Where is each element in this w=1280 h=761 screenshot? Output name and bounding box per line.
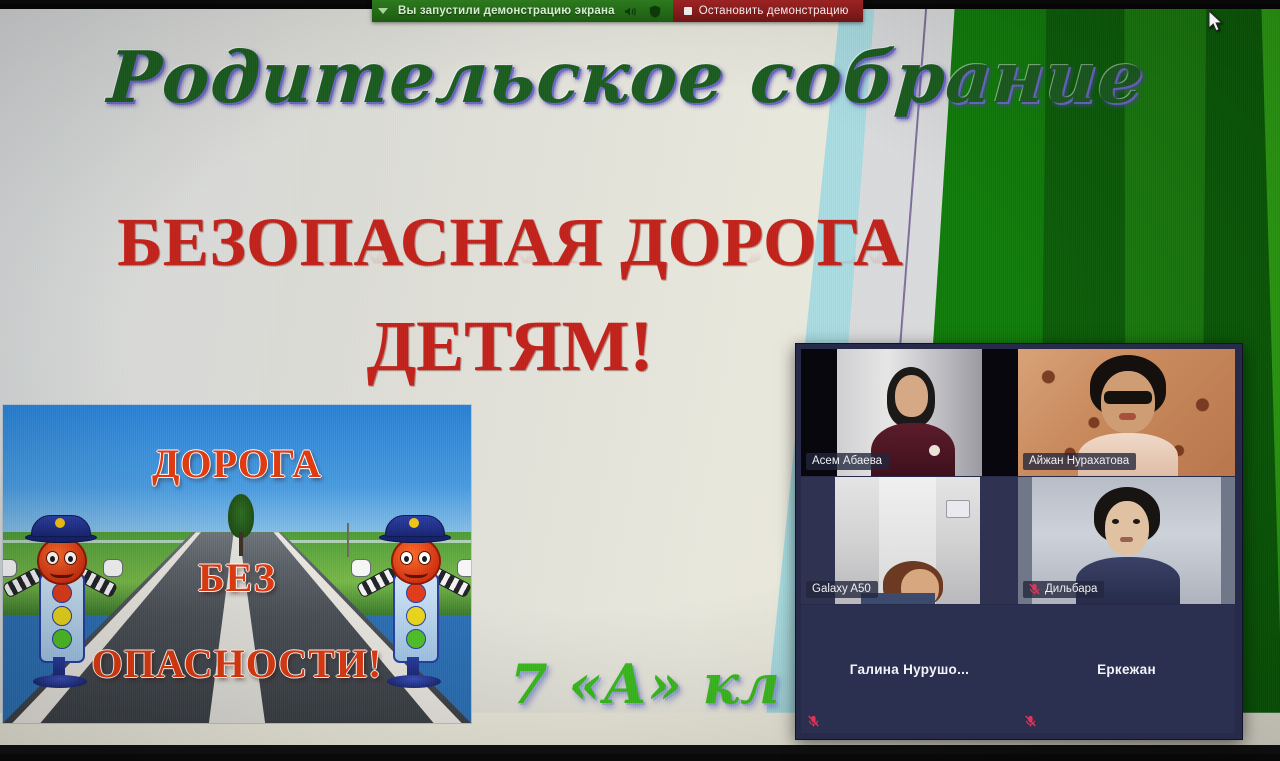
participant-name-label: Дильбара (1023, 581, 1104, 598)
zoom-screen-share-bar[interactable]: Вы запустили демонстрацию экрана Останов… (372, 0, 863, 22)
participant-name-text: Еркежан (1097, 662, 1156, 677)
zoom-participants-panel[interactable]: Асем Абаева Айжан Нурахатова (795, 343, 1243, 740)
stop-share-button[interactable]: Остановить демонстрацию (673, 0, 863, 22)
shield-icon[interactable] (647, 3, 663, 19)
poster-text-line2: БЕЗ (3, 554, 471, 601)
chevron-down-icon[interactable] (378, 8, 388, 14)
share-status-text: Вы запустили демонстрацию экрана (398, 5, 615, 17)
tile-row: Асем Абаева Айжан Нурахатова (801, 349, 1235, 476)
stop-square-icon (684, 7, 692, 15)
mic-muted-icon (1025, 714, 1036, 726)
participant-name-text: Айжан Нурахатова (1029, 455, 1129, 467)
mouse-pointer-icon (1208, 10, 1224, 38)
share-status-group[interactable]: Вы запустили демонстрацию экрана (372, 0, 673, 22)
participant-name-label: Асем Абаева (806, 453, 889, 470)
participant-tile-dilbara[interactable]: Дильбара (1018, 477, 1235, 604)
mic-muted-icon (808, 714, 819, 726)
poster-tree-icon (228, 494, 254, 556)
participant-name-text: Галина Нурушо... (850, 662, 969, 677)
participant-tile-galina-nurusho[interactable]: Галина Нурушо... (801, 605, 1018, 733)
participant-name-text: Асем Абаева (812, 455, 882, 467)
participant-name-text: Дильбара (1045, 583, 1097, 595)
poster-utility-pole (347, 523, 349, 557)
speaker-icon[interactable] (623, 3, 639, 19)
participant-name-text: Galaxy A50 (812, 583, 871, 595)
participant-tile-erkezhan[interactable]: Еркежан (1018, 605, 1235, 733)
poster-text-line3: ОПАСНОСТИ! (3, 640, 471, 687)
participant-tile-grid: Асем Абаева Айжан Нурахатова (801, 349, 1235, 733)
mic-muted-icon (1029, 583, 1040, 595)
stop-share-label: Остановить демонстрацию (699, 5, 849, 17)
participant-tile-aizhan-nurahatova[interactable]: Айжан Нурахатова (1018, 349, 1235, 476)
screen-photo: Родительское собрание БЕЗОПАСНАЯ ДОРОГА … (0, 0, 1280, 761)
participant-name-label: Айжан Нурахатова (1023, 453, 1136, 470)
poster-text-line1: ДОРОГА (3, 440, 471, 487)
tile-row: Галина Нурушо... Еркежан (801, 605, 1235, 733)
participant-name-label: Galaxy A50 (806, 581, 878, 598)
slide-headline-line1-reflection: БЕЗОПАСНАЯ ДОРОГА (60, 244, 960, 270)
slide-class-label: 7 «А» кл (510, 652, 781, 716)
participant-tile-asem-abaeva[interactable]: Асем Абаева (801, 349, 1018, 476)
road-safety-poster-image: ДОРОГА БЕЗ ОПАСНОСТИ! (2, 404, 472, 724)
slide-title: Родительское собрание (105, 40, 990, 115)
monitor-bottom-edge (0, 745, 1280, 754)
tile-row: Galaxy A50 (801, 477, 1235, 604)
participant-tile-galaxy-a50[interactable]: Galaxy A50 (801, 477, 1018, 604)
